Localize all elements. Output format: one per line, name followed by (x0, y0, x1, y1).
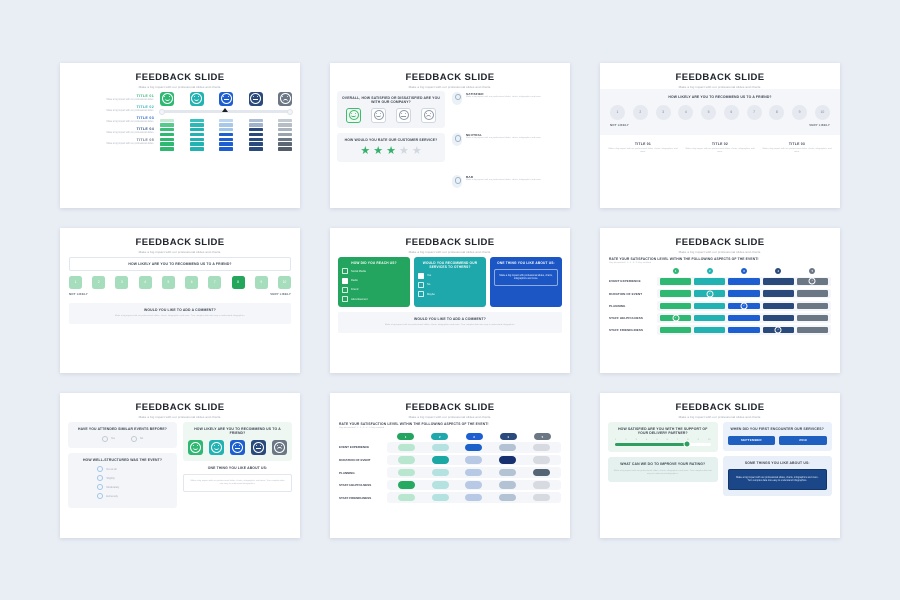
question-text: HAVE YOU ATTENDED SIMILAR EVENTS BEFORE? (73, 427, 172, 431)
rating-oval[interactable] (499, 494, 516, 502)
satisfaction-question-card: OVERALL, HOW SATISFIED OR DISSATISFIED A… (337, 91, 445, 128)
option-label: Friend (351, 288, 358, 291)
table-row: EVENT EXPERIENCE (609, 277, 831, 287)
comment-box[interactable]: WOULD YOU LIKE TO ADD A COMMENT? Make a … (338, 312, 562, 333)
nps-option[interactable]: 2 (633, 105, 648, 120)
slide-8-title: FEEDBACK SLIDE (330, 402, 570, 413)
rating-oval[interactable] (533, 494, 550, 502)
nps-option[interactable]: 1 (610, 105, 625, 120)
person-pin-icon (452, 133, 462, 146)
rating-oval[interactable] (398, 456, 415, 464)
comment-input[interactable]: Make a big impact with our professional … (183, 474, 292, 492)
scale-header: 5 (809, 268, 815, 274)
question-text: HOW LIKELY ARE YOU TO RECOMMEND US TO A … (610, 95, 830, 99)
row-label: DURATION OF EVENT (609, 292, 657, 296)
nps-option[interactable]: 9 (255, 276, 268, 289)
rating-cell[interactable] (728, 327, 759, 333)
rating-cell[interactable] (797, 327, 828, 333)
radio-icon[interactable] (97, 484, 103, 490)
row-label: DURATION OF EVENT (339, 458, 387, 462)
rating-oval[interactable] (432, 481, 449, 489)
person-pin-icon (452, 175, 462, 188)
nps-option[interactable]: 4 (139, 276, 152, 289)
sad-face-icon[interactable] (421, 108, 436, 123)
neutral-face-icon[interactable] (251, 440, 266, 455)
scale-tick: 4 (646, 439, 647, 441)
box-title: WOULD YOU RECOMMEND OUR SERVICES TO OTHE… (418, 261, 482, 270)
service-rating-card: HOW WOULD YOU RATE OUR CUSTOMER SERVICE?… (337, 133, 445, 162)
slide-9[interactable]: FEEDBACK SLIDE Make a big impact with ou… (600, 393, 840, 538)
list-item-title: TITLE 04 (68, 127, 154, 131)
rating-cell[interactable] (694, 303, 725, 309)
slide-7[interactable]: FEEDBACK SLIDE Make a big impact with ou… (60, 393, 300, 538)
list-item: SATISFIED Make a big impact with our pro… (452, 92, 563, 105)
nps-option[interactable]: 8 (769, 105, 784, 120)
question-text: OVERALL, HOW SATISFIED OR DISSATISFIED A… (341, 96, 441, 104)
option-label: Radio (351, 279, 358, 282)
happy-face-icon[interactable] (346, 108, 361, 123)
person-pin-icon (452, 92, 462, 105)
slide-2-title: FEEDBACK SLIDE (330, 72, 570, 83)
check-icon (741, 302, 748, 309)
neutral-face-icon[interactable] (219, 92, 233, 106)
info-column: TITLE 03 Make a big impact with our prof… (762, 142, 832, 154)
bar-column (278, 119, 292, 152)
neutral-face-icon[interactable] (396, 108, 411, 123)
rating-cell[interactable] (763, 315, 794, 321)
rating-cell[interactable] (694, 315, 725, 321)
one-thing-section: ONE THING YOU LIKE ABOUT US: Make a big … (183, 466, 292, 492)
first-encounter-card: WHEN DID YOU FIRST ENCOUNTER OUR SERVICE… (723, 422, 833, 451)
scale-header: 3 (741, 268, 747, 274)
bar-column (249, 119, 263, 152)
happy-face-icon[interactable] (160, 92, 174, 106)
year-button[interactable]: 2019 (779, 436, 827, 445)
rating-oval[interactable] (465, 469, 482, 477)
scale-header: 4 (500, 433, 517, 440)
comment-body: Make a big impact with our professional … (348, 324, 552, 327)
list-item-desc: Make a big impact with our professional … (68, 143, 154, 145)
checkbox-row[interactable]: Social Media (342, 268, 406, 274)
radio-row[interactable]: Slightly (97, 475, 172, 481)
column-title: TITLE 01 (608, 142, 678, 146)
slide-2[interactable]: FEEDBACK SLIDE Make a big impact with ou… (330, 63, 570, 208)
option-label: Yes (111, 437, 115, 440)
scale-header: 4 (775, 268, 781, 274)
slider-fill (615, 443, 689, 447)
radio-icon[interactable] (102, 436, 108, 442)
radio-row[interactable]: Moderately (97, 484, 172, 490)
nps-option[interactable]: 7 (208, 276, 221, 289)
nps-option[interactable]: 6 (185, 276, 198, 289)
question-subtitle: Very dissatisfied / 1 - 5 - 4 - 5 Very s… (609, 262, 831, 264)
radio-row[interactable]: Not at all (97, 466, 172, 472)
rating-cell[interactable] (728, 278, 759, 284)
rating-cell[interactable] (797, 303, 828, 309)
happy-face-icon[interactable] (209, 440, 224, 455)
emoji-scale[interactable] (160, 92, 292, 106)
scale-header: 3 (466, 433, 483, 440)
checkbox-row[interactable]: Radio (342, 278, 406, 284)
question-text: HOW LIKELY ARE YOU TO RECOMMEND US TO A … (73, 262, 287, 266)
things-you-like-card: SOME THINGS YOU LIKE ABOUT US: Make a bi… (723, 456, 833, 496)
rating-oval[interactable] (465, 481, 482, 489)
box-title: ONE THING YOU LIKE ABOUT US: (494, 261, 558, 265)
table-row: STAFF HELPFULNESS (339, 480, 561, 490)
row-label: PLANNING (609, 304, 657, 308)
nps-option[interactable]: 10 (278, 276, 291, 289)
rating-cell[interactable] (728, 315, 759, 321)
checkbox-row[interactable]: Maybe (418, 291, 482, 297)
slider-end-left (159, 109, 165, 115)
radio-row[interactable]: Extremely (97, 493, 172, 499)
table-row: PLANNING (609, 301, 831, 311)
slide-4-title: FEEDBACK SLIDE (60, 237, 300, 248)
checkbox-icon[interactable] (342, 268, 348, 274)
row-label: STAFF HELPFULNESS (609, 316, 657, 320)
rating-oval[interactable] (398, 444, 415, 452)
legend-desc: Make a big impact with our professional … (466, 96, 541, 99)
scale-low-label: NOT LIKELY (610, 123, 629, 127)
list-item: TITLE 04 Make a big impact with our prof… (68, 127, 154, 134)
box-note[interactable]: Make a big impact with professional slid… (494, 269, 558, 286)
nps-option[interactable]: 4 (678, 105, 693, 120)
rating-oval-selected[interactable] (465, 444, 482, 452)
rating-cell[interactable] (694, 327, 725, 333)
star-icon[interactable]: ★ (373, 146, 383, 157)
nps-option[interactable]: 5 (162, 276, 175, 289)
scale-tick: 3 (636, 439, 637, 441)
rating-cell-selected[interactable] (797, 278, 828, 284)
slide-3-title: FEEDBACK SLIDE (600, 72, 840, 83)
rating-oval[interactable] (533, 456, 550, 464)
range-slider[interactable] (160, 109, 292, 115)
row-label: EVENT EXPERIENCE (609, 279, 657, 283)
table-row: EVENT EXPERIENCE (339, 442, 561, 452)
sad-face-icon[interactable] (272, 440, 287, 455)
scale-high-label: VERY LIKELY (270, 292, 291, 296)
rating-oval[interactable] (499, 444, 516, 452)
slide-1[interactable]: FEEDBACK SLIDE Make a big impact with ou… (60, 63, 300, 208)
scale-header: 1 (397, 433, 414, 440)
neutral-face-icon[interactable] (230, 440, 245, 455)
column-desc: Make a big impact with our professional … (608, 148, 678, 154)
radio-row[interactable]: Yes (102, 436, 115, 442)
slide-7-title: FEEDBACK SLIDE (60, 402, 300, 413)
star-rating[interactable]: ★ ★ ★ ★ ★ (341, 146, 441, 157)
rating-oval[interactable] (465, 456, 482, 464)
rating-cell[interactable] (694, 278, 725, 284)
rating-oval[interactable] (465, 494, 482, 502)
happy-face-icon[interactable] (188, 440, 203, 455)
rating-oval[interactable] (432, 444, 449, 452)
question-text: HOW WELL-STRUCTURED WAS THE EVENT? (73, 458, 172, 462)
slide-3[interactable]: FEEDBACK SLIDE Make a big impact with ou… (600, 63, 840, 208)
nps-option[interactable]: 10 (815, 105, 830, 120)
scale-tick: 5 (656, 439, 657, 441)
list-item-desc: Make a big impact with our professional … (68, 110, 154, 112)
improve-rating-card: WHAT CAN WE DO TO IMPROVE YOUR RATING? M… (608, 457, 718, 482)
rating-cell-selected[interactable] (694, 290, 725, 296)
nps-option[interactable]: 2 (92, 276, 105, 289)
emoji-scale[interactable] (188, 440, 287, 455)
checkbox-row[interactable]: Friend (342, 287, 406, 293)
rating-cell[interactable] (797, 315, 828, 321)
slide-1-title-list: TITLE 01 Make a big impact with our prof… (68, 92, 154, 208)
satisfaction-slider[interactable] (615, 443, 711, 447)
info-column: TITLE 01 Make a big impact with our prof… (608, 142, 678, 154)
scale-tick: 1 (615, 439, 616, 441)
checkbox-icon[interactable] (418, 291, 424, 297)
scale-header: 2 (707, 268, 713, 274)
smile-face-icon[interactable] (371, 108, 386, 123)
slider-pointer-icon[interactable] (222, 108, 228, 112)
question-text: WHEN DID YOU FIRST ENCOUNTER OUR SERVICE… (728, 427, 828, 431)
rating-cell-selected[interactable] (728, 303, 759, 309)
scale-header: 1 (673, 268, 679, 274)
scale-tick: 2 (625, 439, 626, 441)
row-label: STAFF FRIENDLINESS (339, 496, 387, 500)
one-thing-box: ONE THING YOU LIKE ABOUT US: Make a big … (490, 257, 562, 308)
comment-title: WOULD YOU LIKE TO ADD A COMMENT? (348, 317, 552, 321)
nps-option[interactable]: 6 (724, 105, 739, 120)
question-text: HOW LIKELY ARE YOU TO RECOMMEND US TO A … (188, 427, 287, 435)
scale-low-label: NOT LIKELY (69, 292, 88, 296)
comment-body: Make a big impact with our professional … (613, 470, 713, 476)
nps-scale[interactable]: 1 2 3 4 5 6 7 8 9 10 (610, 105, 830, 120)
checkbox-row[interactable]: No (418, 282, 482, 288)
star-icon[interactable]: ★ (386, 146, 396, 157)
rating-cell[interactable] (763, 278, 794, 284)
radio-row[interactable]: No (131, 436, 143, 442)
option-label: No (427, 283, 430, 286)
rating-oval-selected[interactable] (533, 469, 550, 477)
question-text: RATE YOUR SATISFACTION LEVEL WITHIN THE … (339, 422, 561, 426)
scale-tick: 9 (698, 439, 699, 441)
list-item-desc: Make a big impact with our professional … (68, 99, 154, 101)
nps-option[interactable]: 3 (115, 276, 128, 289)
scale-high-label: VERY LIKELY (809, 123, 830, 127)
list-item: BAD Make a big impact with our professio… (452, 175, 563, 188)
list-item: TITLE 01 Make a big impact with our prof… (68, 94, 154, 101)
box-title: HOW DID YOU REACH US? (342, 261, 406, 265)
column-title: TITLE 03 (762, 142, 832, 146)
slide-5[interactable]: FEEDBACK SLIDE Make a big impact with ou… (330, 228, 570, 373)
scale-tick: 6 (667, 439, 668, 441)
table-row: STAFF FRIENDLINESS (609, 325, 831, 335)
checkbox-row[interactable]: Yes (418, 273, 482, 279)
comment-body[interactable]: Make a big impact with our professional … (728, 469, 828, 490)
slide-6[interactable]: FEEDBACK SLIDE Make a big impact with ou… (600, 228, 840, 373)
legend-list: SATISFIED Make a big impact with our pro… (452, 91, 563, 208)
list-item: TITLE 02 Make a big impact with our prof… (68, 105, 154, 112)
info-column: TITLE 02 Make a big impact with our prof… (685, 142, 755, 154)
rating-oval[interactable] (533, 481, 550, 489)
comment-title: WOULD YOU LIKE TO ADD A COMMENT? (79, 308, 281, 312)
list-item: TITLE 05 Make a big impact with our prof… (68, 138, 154, 145)
check-icon (775, 327, 782, 334)
radio-icon[interactable] (97, 493, 103, 499)
comment-body: Make a big impact with our professional … (79, 315, 281, 318)
rating-oval-selected[interactable] (398, 481, 415, 489)
slider-handle[interactable] (683, 441, 690, 448)
rating-cell[interactable] (660, 303, 691, 309)
column-desc: Make a big impact with our professional … (762, 148, 832, 154)
table-row: PLANNING (339, 467, 561, 477)
option-label: Social Media (351, 270, 366, 273)
comment-body: Make a big impact with our professional … (190, 480, 285, 486)
slider-end-right (287, 109, 293, 115)
checkbox-icon[interactable] (342, 287, 348, 293)
rating-oval[interactable] (533, 444, 550, 452)
happy-face-icon[interactable] (190, 92, 204, 106)
nps-option[interactable]: 3 (656, 105, 671, 120)
check-icon (706, 290, 713, 297)
neutral-face-icon[interactable] (249, 92, 263, 106)
checkbox-icon-checked[interactable] (342, 278, 348, 284)
question-box: HOW LIKELY ARE YOU TO RECOMMEND US TO A … (69, 257, 291, 271)
nps-scale[interactable]: 1 2 3 4 5 6 7 8 9 10 (69, 276, 291, 289)
slide-5-title: FEEDBACK SLIDE (330, 237, 570, 248)
bar-column (160, 119, 174, 152)
attended-events-card: HAVE YOU ATTENDED SIMILAR EVENTS BEFORE?… (68, 422, 177, 448)
scale-tick: 10 (708, 439, 710, 441)
well-structured-card: HOW WELL-STRUCTURED WAS THE EVENT? Not a… (68, 453, 177, 508)
question-text: HOW WOULD YOU RATE OUR CUSTOMER SERVICE? (341, 138, 441, 142)
rating-cell[interactable] (728, 290, 759, 296)
list-item-title: TITLE 03 (68, 116, 154, 120)
question-text: HOW SATISFIED ARE YOU WITH THE SUPPORT O… (613, 427, 713, 435)
legend-desc: Make a big impact with our professional … (466, 137, 541, 140)
list-item-title: TITLE 05 (68, 138, 154, 142)
check-icon (672, 314, 679, 321)
nps-option[interactable]: 7 (747, 105, 762, 120)
list-item: NEUTRAL Make a big impact with our profe… (452, 133, 563, 146)
rating-oval[interactable] (398, 469, 415, 477)
question-text: SOME THINGS YOU LIKE ABOUT US: (728, 461, 828, 465)
checkbox-row[interactable]: Advertisement (342, 296, 406, 302)
row-label: EVENT EXPERIENCE (339, 445, 387, 449)
recommend-box: WOULD YOU RECOMMEND OUR SERVICES TO OTHE… (414, 257, 486, 308)
radio-icon[interactable] (97, 475, 103, 481)
slide-6-title: FEEDBACK SLIDE (600, 237, 840, 248)
legend-desc: Make a big impact with our professional … (466, 179, 541, 182)
nps-panel: HOW LIKELY ARE YOU TO RECOMMEND US TO A … (600, 89, 840, 136)
bar-column (190, 119, 204, 152)
question-subtitle: Very dissatisfied / 1 - 2 - 3 - 4 - 5 Ve… (339, 427, 561, 429)
radio-icon[interactable] (97, 466, 103, 472)
slider-scale-labels: 1 2 3 4 5 6 7 8 9 10 (615, 439, 711, 441)
checkbox-icon[interactable] (418, 282, 424, 288)
table-row: STAFF FRIENDLINESS (339, 492, 561, 502)
delivery-support-card: HOW SATISFIED ARE YOU WITH THE SUPPORT O… (608, 422, 718, 453)
nps-option[interactable]: 5 (701, 105, 716, 120)
rating-oval-selected[interactable] (499, 456, 516, 464)
check-icon (809, 278, 816, 285)
rating-cell[interactable] (660, 278, 691, 284)
rating-cell[interactable] (763, 290, 794, 296)
rating-oval[interactable] (499, 481, 516, 489)
rating-oval[interactable] (432, 494, 449, 502)
rating-cell-selected[interactable] (660, 315, 691, 321)
column-title: TITLE 02 (685, 142, 755, 146)
bar-column (219, 119, 233, 152)
scale-tick: 7 (677, 439, 678, 441)
slide-4[interactable]: FEEDBACK SLIDE Make a big impact with ou… (60, 228, 300, 373)
option-label: Not at all (106, 468, 116, 471)
option-label: Slightly (106, 477, 114, 480)
rating-oval[interactable] (499, 469, 516, 477)
radio-icon[interactable] (131, 436, 137, 442)
face-rating-group[interactable] (341, 108, 441, 123)
scale-header: 5 (534, 433, 551, 440)
question-text: RATE YOUR SATISFACTION LEVEL WITHIN THE … (609, 257, 831, 261)
table-row: STAFF HELPFULNESS (609, 313, 831, 323)
nps-option[interactable]: 9 (792, 105, 807, 120)
nps-option[interactable]: 1 (69, 276, 82, 289)
option-label: No (140, 437, 143, 440)
list-item-desc: Make a big impact with our professional … (68, 132, 154, 134)
table-row: DURATION OF EVENT (609, 289, 831, 299)
rating-cell-selected[interactable] (763, 327, 794, 333)
nps-option-selected[interactable]: 8 (232, 276, 245, 289)
month-button[interactable]: SEPTEMBER (728, 436, 776, 445)
question-text: WHAT CAN WE DO TO IMPROVE YOUR RATING? (613, 462, 713, 466)
table-row: DURATION OF EVENT (339, 455, 561, 465)
row-label: PLANNING (339, 471, 387, 475)
rating-oval[interactable] (398, 494, 415, 502)
rating-cell[interactable] (763, 303, 794, 309)
scale-header: 2 (431, 433, 448, 440)
question-text: ONE THING YOU LIKE ABOUT US: (183, 466, 292, 470)
rating-cell[interactable] (660, 290, 691, 296)
checkbox-icon-checked[interactable] (418, 273, 424, 279)
rating-oval-selected[interactable] (432, 456, 449, 464)
option-label: Moderately (106, 486, 119, 489)
slide-grid: FEEDBACK SLIDE Make a big impact with ou… (0, 0, 900, 600)
rating-oval[interactable] (432, 469, 449, 477)
column-desc: Make a big impact with our professional … (685, 148, 755, 154)
option-label: Advertisement (351, 298, 368, 301)
list-item: TITLE 03 Make a big impact with our prof… (68, 116, 154, 123)
option-label: Maybe (427, 293, 435, 296)
reach-us-box: HOW DID YOU REACH US? Social Media Radio… (338, 257, 410, 308)
option-label: Yes (427, 274, 431, 277)
slide-9-title: FEEDBACK SLIDE (600, 402, 840, 413)
segmented-bar-chart (160, 119, 292, 152)
row-label: STAFF FRIENDLINESS (609, 328, 657, 332)
row-label: STAFF HELPFULNESS (339, 483, 387, 487)
recommend-card: HOW LIKELY ARE YOU TO RECOMMEND US TO A … (183, 422, 292, 461)
slide-8[interactable]: FEEDBACK SLIDE Make a big impact with ou… (330, 393, 570, 538)
comment-box[interactable]: WOULD YOU LIKE TO ADD A COMMENT? Make a … (69, 303, 291, 324)
star-icon[interactable]: ★ (399, 146, 409, 157)
slide-1-title: FEEDBACK SLIDE (60, 72, 300, 83)
list-item-title: TITLE 01 (68, 94, 154, 98)
list-item-desc: Make a big impact with our professional … (68, 121, 154, 123)
checkbox-icon[interactable] (342, 296, 348, 302)
star-icon[interactable]: ★ (360, 146, 370, 157)
star-icon[interactable]: ★ (412, 146, 422, 157)
rating-cell[interactable] (797, 290, 828, 296)
option-label: Extremely (106, 495, 118, 498)
sad-face-icon[interactable] (278, 92, 292, 106)
list-item-title: TITLE 02 (68, 105, 154, 109)
rating-cell[interactable] (660, 327, 691, 333)
